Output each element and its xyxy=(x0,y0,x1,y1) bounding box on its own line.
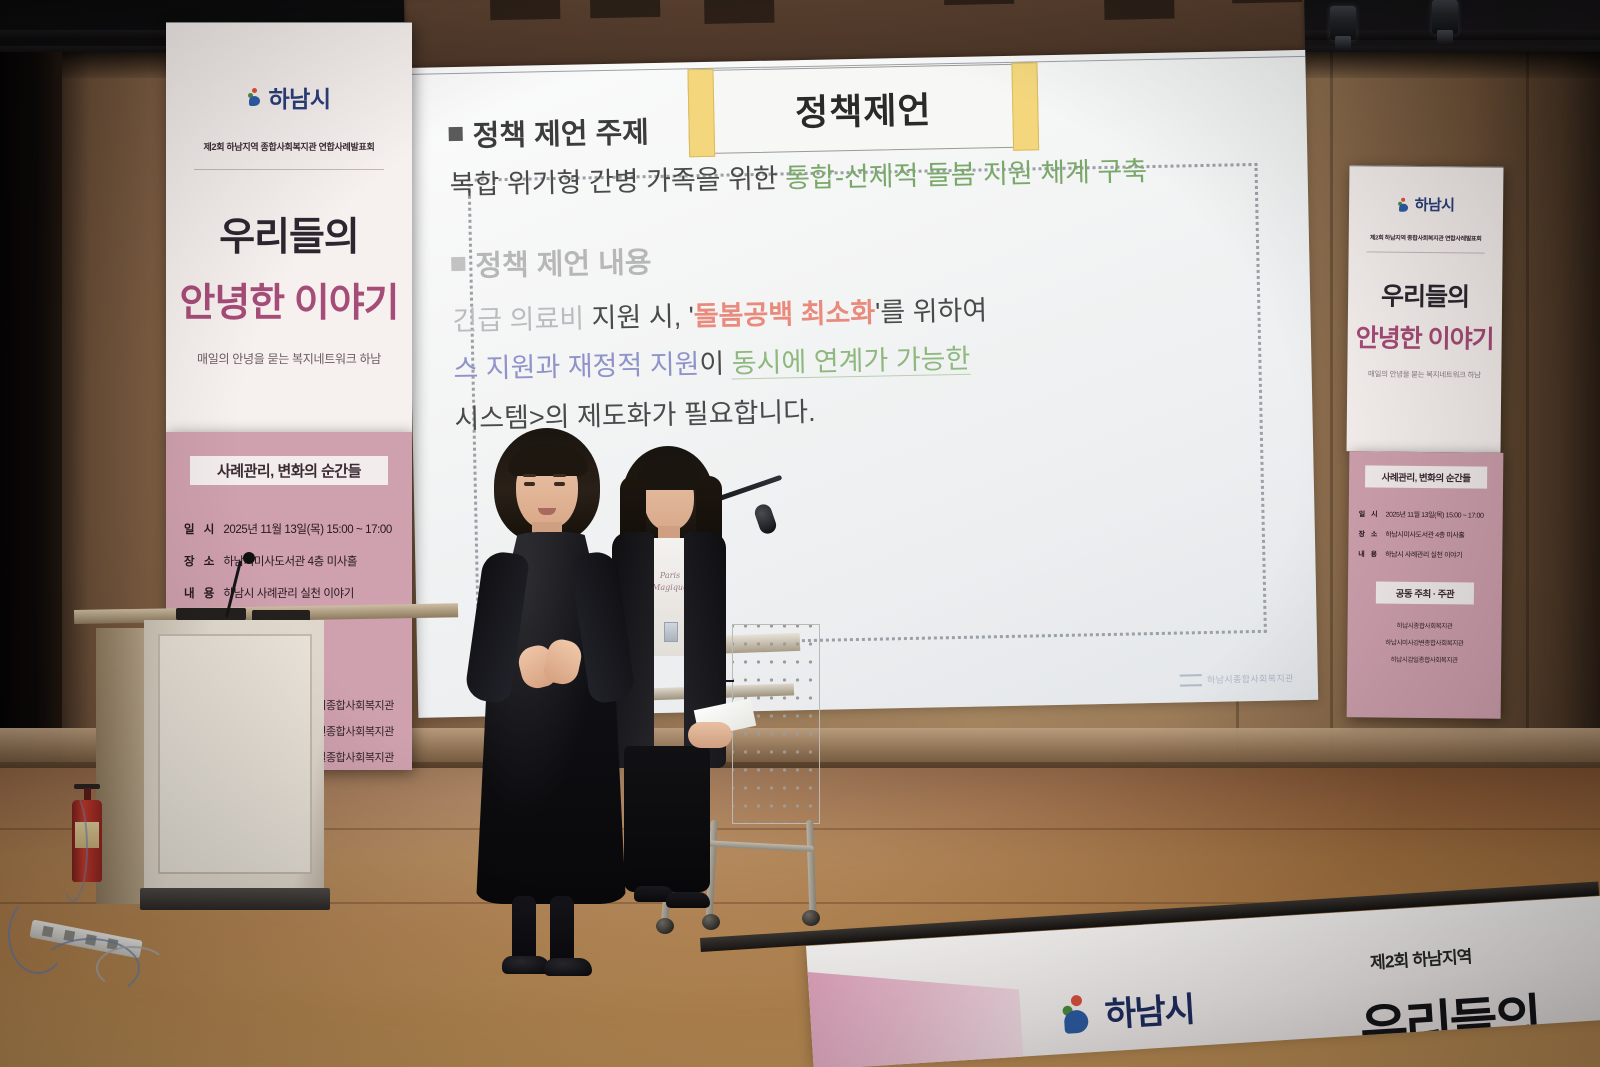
banner-right-org: 하남시종합사회복지관 xyxy=(1348,619,1502,631)
screen-notch xyxy=(944,0,1014,5)
sign-language-interpreter xyxy=(468,428,644,972)
banner-right-row-label: 일 시 xyxy=(1359,511,1380,518)
watermark-logo-icon xyxy=(1180,674,1202,686)
slide-bullet-1-label: 정책 제언 주제 xyxy=(472,113,649,158)
banner-right-headline-1: 우리들의 xyxy=(1348,276,1502,314)
banner-right-row-value: 하남시미사도서관 4층 미사홀 xyxy=(1385,532,1464,540)
banner-left-top: 하남시 제2회 하남지역 종합사회복지관 연합사례발표회 우리들의 안녕한 이야… xyxy=(166,22,412,432)
banner-right-org: 하남시미사강변종합사회복지관 xyxy=(1347,636,1501,648)
banner-left-row: 내 용하남시 사례관리 실천 이야기 xyxy=(184,585,412,601)
banner-left-info-rows: 일 시2025년 11월 13일(목) 15:00 ~ 17:00 장 소하남시… xyxy=(184,521,412,601)
screen-notch xyxy=(490,0,560,20)
screen-notch xyxy=(704,0,775,24)
interpreter-shoe xyxy=(544,958,592,976)
banner-right-row: 장 소하남시미사도서관 4층 미사홀 xyxy=(1358,529,1502,541)
banner-right-info-rows: 일 시2025년 11월 13일(목) 15:00 ~ 17:00 장 소하남시… xyxy=(1358,509,1503,561)
interpreter-eyebrow xyxy=(553,474,566,477)
banner-left-section-chip: 사례관리, 변화의 순간들 xyxy=(190,456,388,485)
hanam-city-logo-icon xyxy=(1398,197,1410,211)
banner-left-logo-label: 하남시 xyxy=(269,80,331,114)
banner-bottom-logo-label: 하남시 xyxy=(1103,982,1195,1037)
banner-left-row: 장 소하남시미사도서관 4층 미사홀 xyxy=(184,553,412,569)
banner-bottom-logo: 하남시 xyxy=(1059,982,1195,1039)
podium xyxy=(144,620,324,908)
floor-cable xyxy=(58,792,88,902)
banner-right-row-value: 하남시 사례관리 실천 이야기 xyxy=(1385,552,1462,560)
slide-bullet-1: 정책 제언 주제 xyxy=(448,102,1189,158)
wall-seam xyxy=(1526,52,1529,752)
slide-content-1-a: 지원 시, ' xyxy=(591,301,694,333)
banner-right-host-chip: 공동 주최 · 주관 xyxy=(1376,581,1474,604)
banner-bottom-pink-shape xyxy=(808,959,1024,1067)
screen-notch xyxy=(1232,0,1302,3)
slide-watermark-label: 하남시종합사회복지관 xyxy=(1207,671,1294,686)
slide-content-1-highlight: 돌봄공백 최소화 xyxy=(693,297,875,331)
slide-content-2-green: 동시에 연계가 가능한 xyxy=(731,344,970,380)
slide-watermark: 하남시종합사회복지관 xyxy=(1180,671,1294,686)
banner-right-tagline: 매일의 안녕을 묻는 복지네트워크 하남 xyxy=(1347,368,1501,381)
stage-light-icon xyxy=(1330,6,1356,40)
banner-right-bottom: 사례관리, 변화의 순간들 일 시2025년 11월 13일(목) 15:00 … xyxy=(1347,451,1504,719)
interpreter-eye xyxy=(524,482,535,486)
slide-body-content: 정책 제언 주제 복합 위기형 간병 가족을 위한 통합-선제적 돌봄 지원 체… xyxy=(448,102,1194,438)
banner-rail xyxy=(166,22,412,23)
screen-notch xyxy=(1104,0,1175,20)
banner-right-section-chip: 사례관리, 변화의 순간들 xyxy=(1365,465,1487,488)
banner-left-row-label: 장 소 xyxy=(184,556,217,568)
interpreter-eye xyxy=(554,482,565,486)
banner-right-top: 하남시 제2회 하남지역 종합사회복지관 연합사례발표회 우리들의 안녕한 이야… xyxy=(1347,165,1504,453)
lectern-caster-icon xyxy=(802,910,820,926)
slide-bullet-2-label: 정책 제언 내용 xyxy=(475,243,652,288)
banner-left-row-label: 내 용 xyxy=(184,588,217,600)
banner-divider xyxy=(194,169,384,170)
hanam-city-logo-icon xyxy=(248,88,264,106)
banner-rail xyxy=(1347,165,1504,168)
stage-light-icon xyxy=(1432,0,1458,34)
conference-hall-photo: 정책제언 정책 제언 주제 복합 위기형 간병 가족을 위한 통합-선제적 돌봄… xyxy=(0,0,1600,1067)
banner-left-headline-1: 우리들의 xyxy=(166,206,412,262)
banner-left-tagline: 매일의 안녕을 묻는 복지네트워크 하남 xyxy=(166,350,412,367)
slide-content-2-blue: 스 지원과 재정적 지원 xyxy=(453,349,700,384)
banner-divider xyxy=(1367,251,1485,253)
banner-left-row: 일 시2025년 11월 13일(목) 15:00 ~ 17:00 xyxy=(184,521,412,537)
presenter-shoe xyxy=(666,892,710,908)
banner-right-event-line: 제2회 하남지역 종합사회복지관 연합사례발표회 xyxy=(1357,232,1495,242)
banner-right-logo: 하남시 xyxy=(1349,193,1503,216)
slide-content-line-1: 긴급 의료비 지원 시, '돌봄공백 최소화'를 위하여 xyxy=(452,287,1193,340)
podium-side xyxy=(96,628,148,904)
banner-bottom-event-line: 제2회 하남지역 xyxy=(1369,942,1472,973)
banner-right-row: 일 시2025년 11월 13일(목) 15:00 ~ 17:00 xyxy=(1359,509,1503,521)
banner-left-row-value: 하남시 사례관리 실천 이야기 xyxy=(223,588,354,600)
presenter-name-badge xyxy=(664,622,678,642)
wall-seam xyxy=(1330,52,1333,752)
podium-device xyxy=(176,608,246,620)
lectern-caster-icon xyxy=(702,914,720,930)
banner-left-logo: 하남시 xyxy=(166,80,412,114)
banner-right-row-label: 장 소 xyxy=(1358,531,1379,538)
slide-content-2-mid: 이 xyxy=(699,348,732,379)
banner-left-row-value: 2025년 11월 13일(목) 15:00 ~ 17:00 xyxy=(223,524,392,536)
podium-front-panel xyxy=(158,634,312,874)
lectern-caster-icon xyxy=(656,918,674,934)
screen-notch xyxy=(590,0,660,18)
bullet-square-icon xyxy=(449,127,463,141)
banner-left-event-line: 제2회 하남지역 종합사회복지관 연합사례발표회 xyxy=(180,140,398,153)
bullet-square-icon xyxy=(451,256,465,270)
podium-mic-icon xyxy=(243,552,255,564)
slide-content-1-pre: 긴급 의료비 xyxy=(452,303,592,336)
slide-subject-a: 복합 위기형 간병 가족을 위한 xyxy=(449,164,785,201)
banner-right-logo-label: 하남시 xyxy=(1415,194,1455,215)
banner-right-headline-2: 안녕한 이야기 xyxy=(1348,318,1502,356)
banner-left-headline-2: 안녕한 이야기 xyxy=(166,272,412,328)
banner-right-orgs: 하남시종합사회복지관 하남시미사강변종합사회복지관 하남시감일종합사회복지관 xyxy=(1347,619,1501,665)
slide-content-line-2: 스 지원과 재정적 지원이 동시에 연계가 가능한 xyxy=(453,335,1194,388)
floor-cable xyxy=(96,946,168,990)
slide-subject-b: 통합-선제적 돌봄 지원 체계 구축 xyxy=(785,156,1147,193)
slide-content-1-b: '를 위하여 xyxy=(875,295,988,327)
banner-right-row: 내 용하남시 사례관리 실천 이야기 xyxy=(1358,549,1502,561)
banner-right-org: 하남시감일종합사회복지관 xyxy=(1347,653,1501,665)
banner-right-row-label: 내 용 xyxy=(1358,551,1379,558)
hanam-city-logo-icon xyxy=(1060,994,1096,1034)
interpreter-shoe xyxy=(502,956,550,974)
podium-base xyxy=(140,888,330,910)
banner-left-row-label: 일 시 xyxy=(184,524,217,536)
presenter-hand xyxy=(688,722,732,748)
interpreter-eyebrow xyxy=(523,474,536,477)
banner-right-row-value: 2025년 11월 13일(목) 15:00 ~ 17:00 xyxy=(1386,512,1484,520)
